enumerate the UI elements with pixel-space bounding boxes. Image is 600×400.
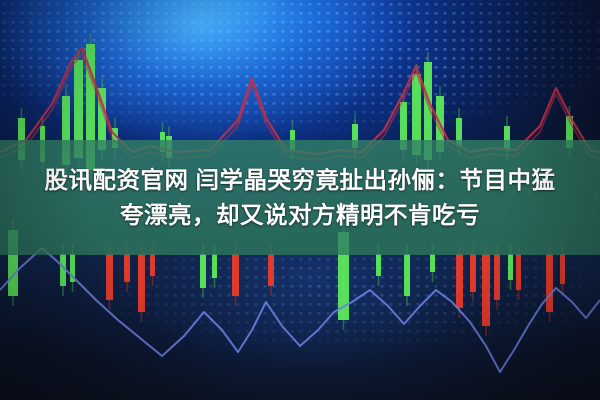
banner-image: 股讯配资官网 闫学晶哭穷竟扯出孙俪：节目中猛 夸漂亮，却又说对方精明不肯吃亏 [0,0,600,400]
headline-line-1: 股讯配资官网 闫学晶哭穷竟扯出孙俪：节目中猛 [44,163,555,198]
headline-line-2: 夸漂亮，却又说对方精明不肯吃亏 [120,198,480,233]
headline: 股讯配资官网 闫学晶哭穷竟扯出孙俪：节目中猛 夸漂亮，却又说对方精明不肯吃亏 [0,140,600,255]
lower-candle-bars-red [106,244,565,336]
